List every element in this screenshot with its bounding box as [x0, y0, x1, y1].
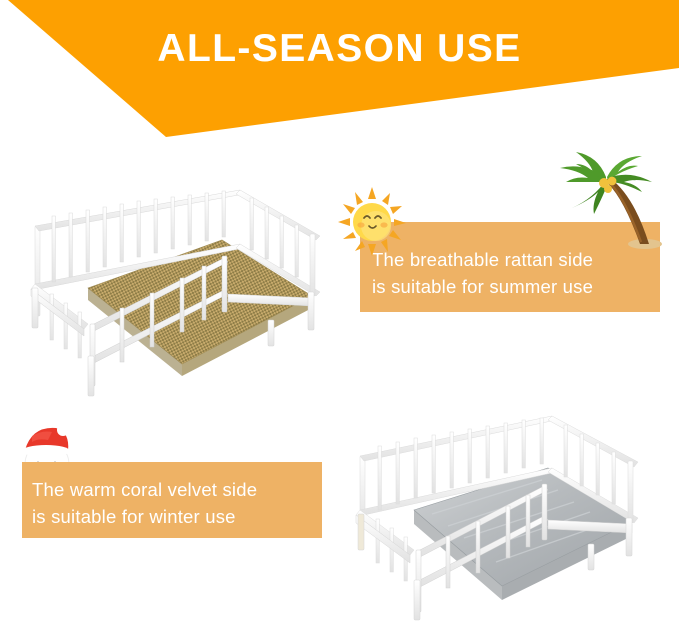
winter-caption-text: The warm coral velvet side is suitable f… — [32, 476, 318, 531]
snowman-hat-brim — [22, 445, 70, 457]
bed-rail-front-left — [31, 284, 88, 358]
snowman-hat-pom — [57, 424, 69, 436]
page-title: ALL-SEASON USE — [0, 28, 679, 71]
infographic-canvas: ALL-SEASON USE — [0, 0, 679, 626]
summer-caption-text: The breathable rattan side is suitable f… — [372, 246, 658, 301]
sun-blush-right — [380, 222, 387, 227]
header-banner: ALL-SEASON USE — [0, 0, 679, 150]
palm-tree-icon — [548, 152, 674, 252]
sun-blush-left — [357, 222, 364, 227]
sun-icon — [336, 186, 408, 258]
bed-rail-front-left — [356, 510, 414, 581]
velvet-bed-photo — [352, 414, 676, 624]
rattan-bed-photo — [22, 188, 334, 400]
